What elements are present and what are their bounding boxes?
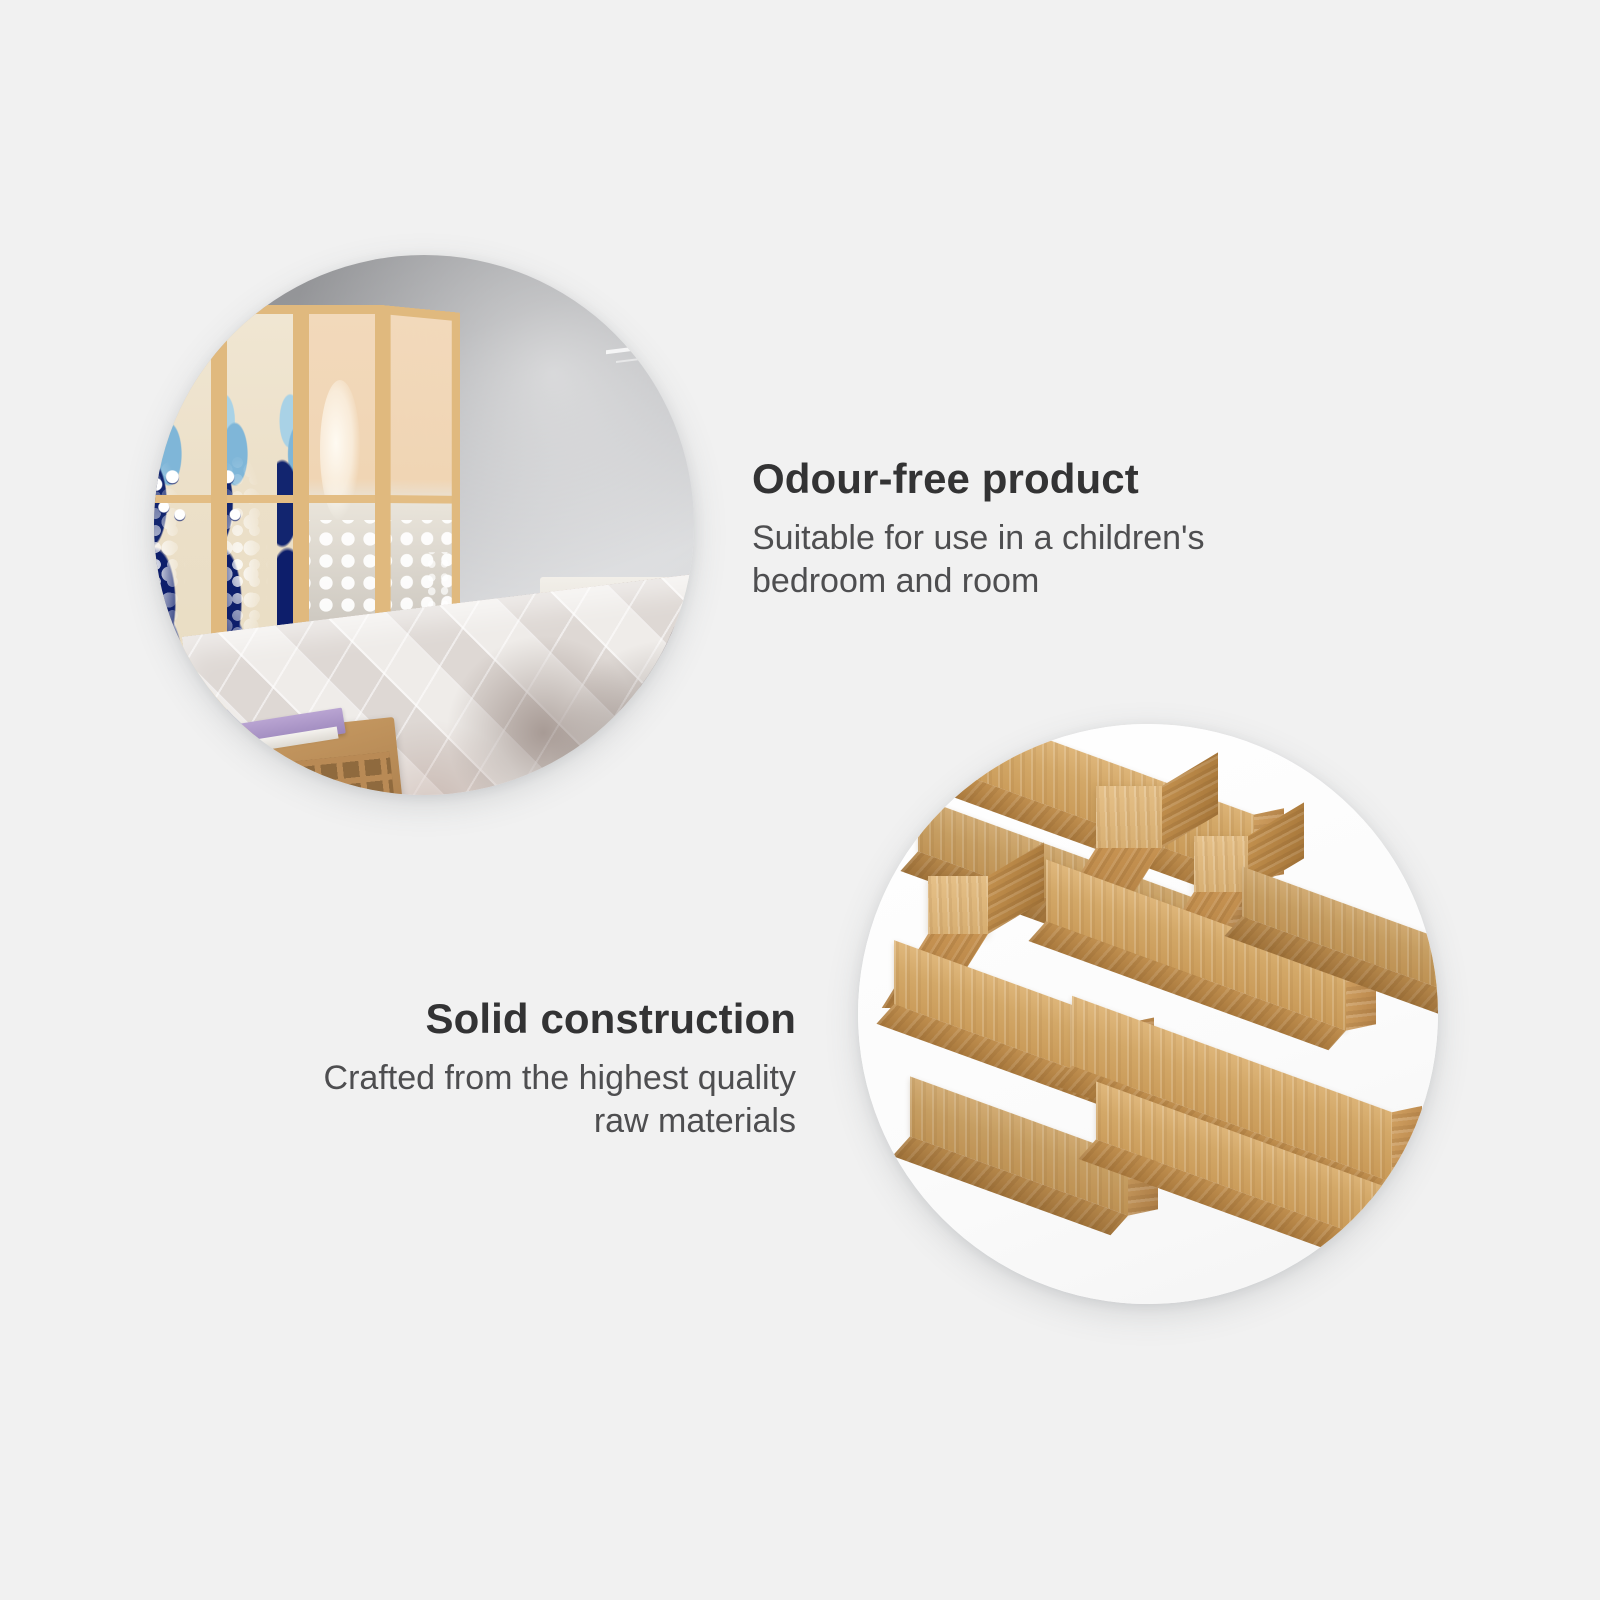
feature-text-odour-free: Odour-free product Suitable for use in a… <box>752 455 1272 603</box>
timber-block <box>1096 786 1162 848</box>
plank-end <box>1396 1184 1426 1248</box>
wooden-chest <box>235 717 406 795</box>
wave-crest <box>154 405 198 595</box>
plank-end <box>1392 1106 1422 1182</box>
wall-picture-frame <box>606 336 694 462</box>
timber-photo-circle <box>858 724 1438 1304</box>
feature-title-solid-construction: Solid construction <box>260 995 796 1043</box>
feature-text-solid-construction: Solid construction Crafted from the high… <box>260 995 796 1143</box>
bedroom-photo-circle <box>154 255 694 795</box>
timber-block <box>1194 836 1248 892</box>
timber-block <box>928 876 988 934</box>
feature-highlight-board: Odour-free product Suitable for use in a… <box>0 0 1600 1600</box>
timber-scene <box>858 724 1438 1304</box>
feature-description-odour-free: Suitable for use in a children's bedroom… <box>752 517 1272 603</box>
feature-description-solid-construction: Crafted from the highest quality raw mat… <box>260 1057 796 1143</box>
bedroom-scene <box>154 255 694 795</box>
paper-cloud <box>320 380 361 520</box>
feature-title-odour-free: Odour-free product <box>752 455 1272 503</box>
wave-crest <box>218 405 253 595</box>
chest-lattice <box>248 752 397 795</box>
